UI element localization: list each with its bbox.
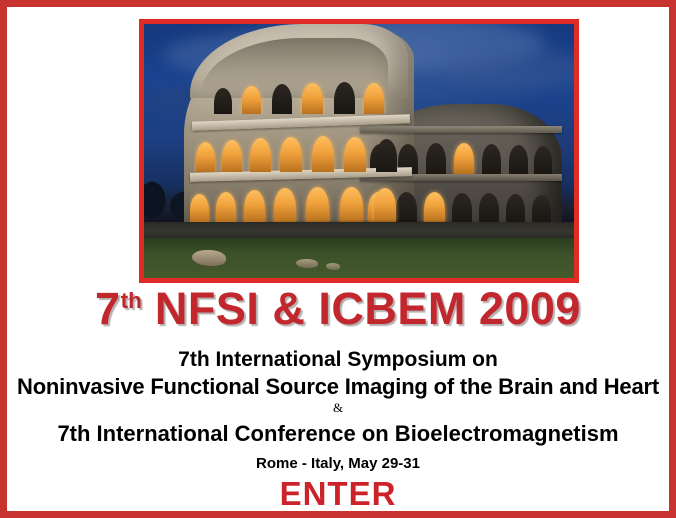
colosseum-photo-frame [139,19,579,283]
venue-dates-line: Rome - Italy, May 29-31 [7,455,669,472]
colosseum-photo [144,24,574,278]
title-ordinal-suffix: th [121,288,142,313]
conference-line: 7th International Conference on Bioelect… [7,421,669,447]
symposium-line: 7th International Symposium on [7,348,669,372]
title-rest: NFSI & ICBEM 2009 [142,283,581,334]
title-ordinal: 7 [95,283,121,334]
ampersand-separator: & [7,400,669,416]
colosseum-structure [184,24,562,234]
enter-button[interactable]: ENTER [7,475,669,513]
arcade-row-ground [190,178,412,222]
foreground-stone [326,263,340,270]
foreground-stone [296,259,318,268]
page-title: 7th NFSI & ICBEM 2009 [7,283,669,335]
symposium-topic-line: Noninvasive Functional Source Imaging of… [7,374,669,400]
arcade-row-middle [194,126,408,172]
conference-splash-page: 7th NFSI & ICBEM 2009 7th International … [0,0,676,518]
arcade-row-attic [206,74,396,114]
walkway [144,222,574,238]
